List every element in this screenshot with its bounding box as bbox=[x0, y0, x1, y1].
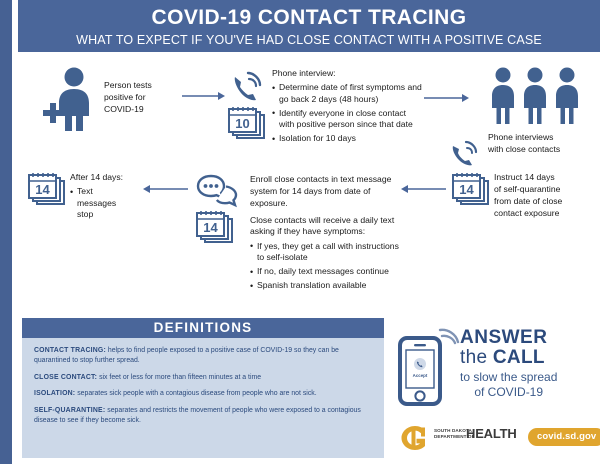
calendar-10-number: 10 bbox=[235, 116, 249, 131]
definition-contact-tracing: CONTACT TRACING: helps to find people ex… bbox=[34, 346, 374, 366]
step1-person-icon bbox=[34, 66, 100, 132]
step5-para1: Enroll close contacts in text message sy… bbox=[250, 174, 400, 210]
step5-bullet-list: If yes, they get a call with instruction… bbox=[250, 241, 400, 292]
definition-text: separates sick people with a contagious … bbox=[75, 390, 316, 397]
calendar-14-number: 14 bbox=[459, 182, 474, 197]
definitions-title: DEFINITIONS bbox=[22, 318, 384, 338]
step4-calendar-icon: 14 bbox=[452, 172, 490, 206]
step5-bullet-1: If yes, they get a call with instruction… bbox=[250, 241, 400, 264]
definition-text: six feet or less for more than fifteen m… bbox=[97, 374, 261, 381]
step1-line2: positive for bbox=[104, 92, 184, 104]
cta-line3: to slow the spread bbox=[460, 370, 557, 385]
header-banner: COVID-19 CONTACT TRACING WHAT TO EXPECT … bbox=[18, 0, 600, 52]
step5-bullet-2: If no, daily text messages continue bbox=[250, 266, 400, 278]
step5-chat-icon bbox=[196, 174, 238, 208]
arrow-right-icon bbox=[182, 90, 226, 102]
step3-line1: Phone interviews bbox=[488, 132, 594, 144]
definition-term: ISOLATION: bbox=[34, 390, 75, 397]
person-with-plus-icon bbox=[34, 66, 100, 132]
step2-content: Phone interview: Determine date of first… bbox=[272, 68, 422, 145]
arrow-left-icon bbox=[140, 183, 188, 195]
definition-term: CLOSE CONTACT: bbox=[34, 374, 97, 381]
footer-org-health: HEALTH bbox=[466, 426, 517, 441]
calendar-14-icon: 14 bbox=[196, 210, 234, 244]
step1-line3: COVID-19 bbox=[104, 104, 184, 116]
step5-bullet-3: Spanish translation available bbox=[250, 280, 400, 292]
definitions-panel: DEFINITIONS CONTACT TRACING: helps to fi… bbox=[22, 318, 384, 458]
calendar-14-icon: 14 bbox=[28, 172, 66, 206]
arrow-right-icon bbox=[424, 92, 470, 104]
step2-heading: Phone interview: bbox=[272, 68, 422, 80]
definition-isolation: ISOLATION: separates sick people with a … bbox=[34, 389, 374, 399]
infographic-page: COVID-19 CONTACT TRACING WHAT TO EXPECT … bbox=[0, 0, 600, 464]
chat-bubbles-icon bbox=[196, 174, 238, 208]
step6-bullet-list: Text messages stop bbox=[70, 186, 132, 221]
definition-self-quarantine: SELF-QUARANTINE: separates and restricts… bbox=[34, 406, 374, 426]
step2-calendar-icon: 10 bbox=[228, 106, 266, 140]
step5-para2: Close contacts will receive a daily text… bbox=[250, 215, 400, 239]
definition-term: CONTACT TRACING: bbox=[34, 347, 106, 354]
footer-logo-row: SOUTH DAKOTA DEPARTMENT OF HEALTH covid.… bbox=[400, 424, 595, 454]
step6-content: After 14 days: Text messages stop bbox=[70, 172, 132, 221]
arrow-left-icon bbox=[398, 183, 446, 195]
step3-people-icon bbox=[488, 66, 582, 128]
step2-bullet-2: Identify everyone in close contact with … bbox=[272, 108, 422, 131]
step2-bullet-3: Isolation for 10 days bbox=[272, 133, 422, 145]
page-subtitle: WHAT TO EXPECT IF YOU'VE HAD CLOSE CONTA… bbox=[18, 32, 600, 48]
calendar-10-icon: 10 bbox=[228, 106, 266, 140]
cta-line4: of COVID-19 bbox=[460, 385, 557, 400]
step1-label: Person tests positive for COVID-19 bbox=[104, 80, 184, 116]
phone-icon bbox=[450, 138, 480, 168]
definition-close-contact: CLOSE CONTACT: six feet or less for more… bbox=[34, 373, 374, 383]
south-dakota-health-logo-icon bbox=[400, 425, 430, 451]
step5-content: Enroll close contacts in text message sy… bbox=[250, 174, 400, 292]
step4-line4: contact exposure bbox=[494, 208, 594, 220]
step2-bullet-1: Determine date of first symptoms and go … bbox=[272, 82, 422, 105]
ringing-smartphone-icon: Accept bbox=[396, 326, 460, 408]
phone-accept-label: Accept bbox=[413, 373, 428, 378]
step1-line1: Person tests bbox=[104, 80, 184, 92]
definitions-body: CONTACT TRACING: helps to find people ex… bbox=[22, 338, 384, 458]
step3-phone-icon bbox=[450, 138, 480, 168]
step2-phone-icon bbox=[231, 70, 265, 104]
step4-line2: of self-quarantine bbox=[494, 184, 594, 196]
step6-bullet-1: Text messages stop bbox=[70, 186, 132, 221]
three-people-icon bbox=[488, 66, 582, 128]
calendar-14-number: 14 bbox=[35, 182, 50, 197]
footer-url-pill[interactable]: covid.sd.gov bbox=[528, 428, 600, 446]
cta-line2-thin: the bbox=[460, 347, 493, 368]
step6-calendar-icon: 14 bbox=[28, 172, 66, 206]
cta-line2: the CALL bbox=[460, 348, 557, 369]
page-title: COVID-19 CONTACT TRACING bbox=[18, 6, 600, 30]
step2-bullet-list: Determine date of first symptoms and go … bbox=[272, 82, 422, 145]
calendar-14-number: 14 bbox=[203, 220, 218, 235]
step4-label: Instruct 14 days of self-quarantine from… bbox=[494, 172, 594, 219]
stripe-gap bbox=[12, 0, 18, 464]
calendar-14-icon: 14 bbox=[452, 172, 490, 206]
cta-line1: ANSWER bbox=[460, 328, 557, 348]
step4-line1: Instruct 14 days bbox=[494, 172, 594, 184]
step3-label: Phone interviews with close contacts bbox=[488, 132, 594, 156]
answer-the-call-text: ANSWER the CALL to slow the spread of CO… bbox=[460, 328, 557, 400]
step5-calendar-icon: 14 bbox=[196, 210, 234, 244]
ringing-phone-icon bbox=[231, 70, 265, 104]
cta-line2-bold: CALL bbox=[493, 347, 545, 368]
left-accent-stripe bbox=[0, 0, 12, 464]
step6-heading: After 14 days: bbox=[70, 172, 132, 184]
step3-line2: with close contacts bbox=[488, 144, 594, 156]
definition-term: SELF-QUARANTINE: bbox=[34, 407, 105, 414]
step4-line3: from date of close bbox=[494, 196, 594, 208]
